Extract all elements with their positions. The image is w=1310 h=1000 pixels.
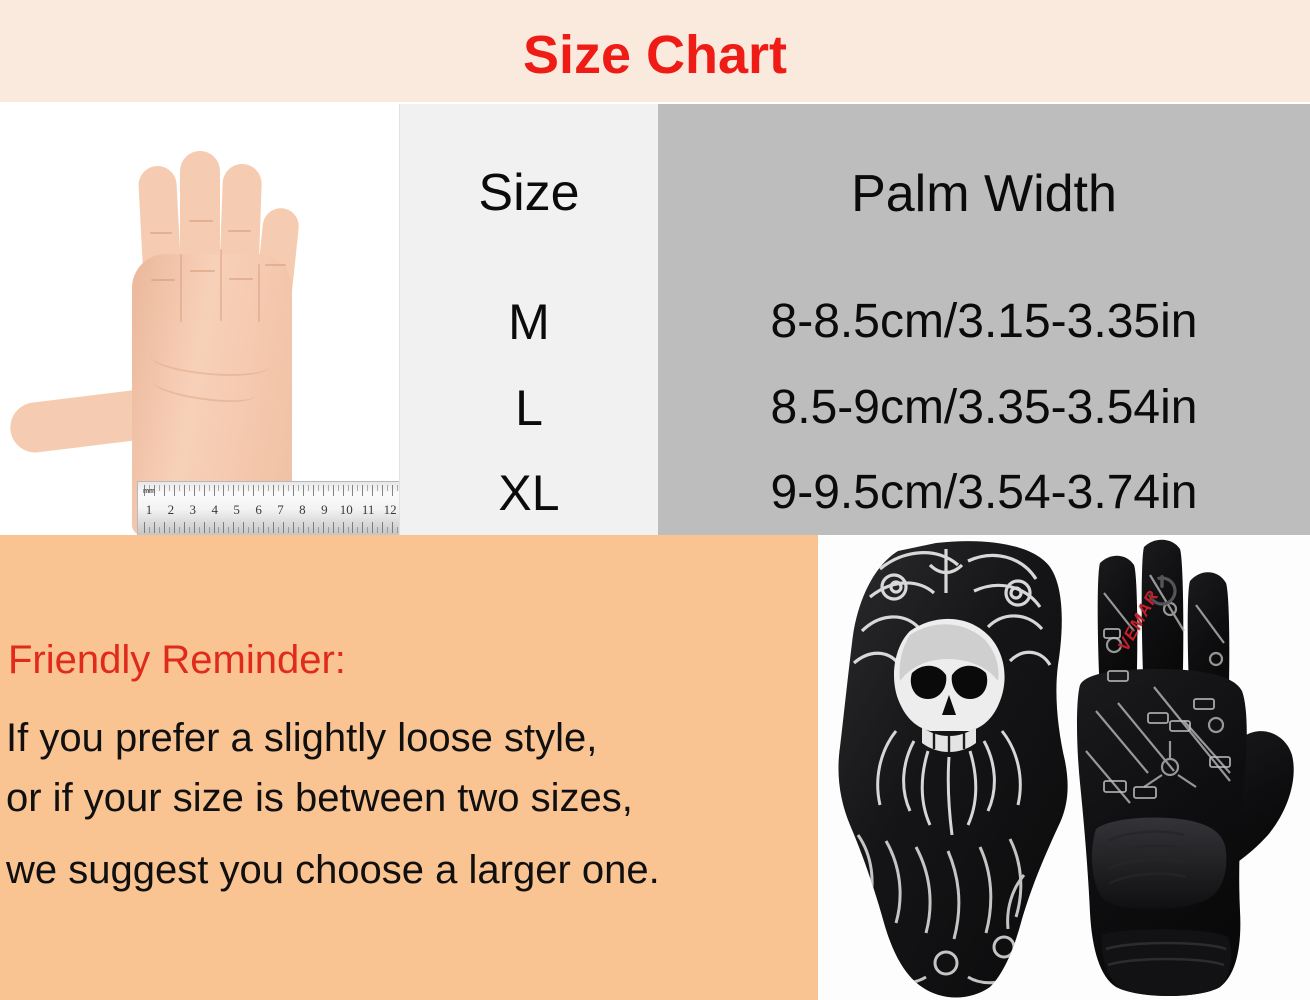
friendly-reminder-panel [0,535,818,1000]
ruler-tick [343,522,344,533]
ruler-number-scale: 123456789101112 [138,499,400,521]
ruler-tick [248,485,249,491]
ruler-tick [238,527,239,533]
ruler-number: 1 [138,499,160,521]
page-title: Size Chart [0,26,1310,84]
ruler-tick [194,522,195,533]
ruler-tick [189,485,190,491]
table-row-size-xl: XL [400,468,658,518]
ruler-tick [233,485,234,496]
finger-groove [180,254,182,322]
ruler-tick [194,485,195,496]
ruler-tick [253,522,254,533]
ruler-tick [343,485,344,496]
ruler-tick [209,485,210,491]
ruler-tick [199,485,200,491]
ruler-tick [258,485,259,491]
ruler-tick [154,522,155,533]
ruler-tick [382,485,383,496]
ruler-tick [228,527,229,533]
ruler-tick [352,522,353,533]
finger-crease [229,278,253,280]
ruler-tick [367,485,368,491]
ruler-tick [223,485,224,496]
ruler-tick [323,522,324,533]
ruler-tick [199,527,200,533]
ruler-tick [352,485,353,496]
ruler-tick [184,485,185,496]
ruler-tick [313,485,314,496]
ruler-tick [278,527,279,533]
ruler-ticks-top [138,485,400,498]
ruler-tick [328,485,329,491]
ruler-number: 9 [313,499,335,521]
glove-palm-side [1077,540,1294,996]
ruler-tick [283,485,284,496]
ruler-tick [323,485,324,496]
ruler-tick [233,522,234,533]
ruler-tick [333,485,334,496]
reminder-line-2: or if your size is between two sizes, [6,778,633,818]
ruler-tick [273,485,274,496]
ruler-tick [397,527,398,533]
ruler-tick [223,522,224,533]
thumb [7,389,152,456]
ruler-tick [248,527,249,533]
ruler-tick [149,485,150,491]
ruler-tick [258,527,259,533]
finger-crease [228,230,251,232]
ruler-tick [268,485,269,491]
ruler-tick [263,485,264,496]
ruler-tick [392,522,393,533]
reminder-line-3: we suggest you choose a larger one. [6,850,660,890]
ruler-tick [288,527,289,533]
ruler-tick [164,522,165,533]
ruler-tick [154,485,155,496]
ruler-number: 7 [270,499,292,521]
ruler-tick [174,522,175,533]
header-band: Size Chart [0,0,1310,102]
ruler-tick [218,527,219,533]
ruler-tick [214,522,215,533]
ruler-tick [184,522,185,533]
ruler-tick [293,485,294,496]
ruler-tick [218,485,219,491]
ruler-tick [273,522,274,533]
finger-crease [151,279,175,281]
ruler-tick [303,485,304,496]
ruler-tick [313,522,314,533]
ruler-tick [357,485,358,491]
table-row-size-l: L [400,383,658,433]
ruler-tick [387,485,388,491]
ruler-tick [228,485,229,491]
column-header-size: Size [400,167,658,219]
ruler-tick [308,527,309,533]
glove-graphic [818,535,1310,1000]
hand-illustration [0,104,400,535]
finger-crease [190,270,215,272]
ruler-tick [179,527,180,533]
column-header-palm-width: Palm Width [658,168,1310,220]
finger-crease [265,264,286,266]
finger-groove [220,249,222,321]
ruler-tick [283,522,284,533]
ruler-number: 4 [204,499,226,521]
ruler-tick [179,485,180,491]
ruler-tick [288,485,289,491]
ruler-tick [362,522,363,533]
ruler-tick [367,527,368,533]
ruler-tick [164,485,165,496]
ruler-tick [348,527,349,533]
ruler-tick [387,527,388,533]
ruler-tick [382,522,383,533]
ruler-tick [348,485,349,491]
ruler-number: 2 [160,499,182,521]
ruler-tick [263,522,264,533]
ruler-tick [278,485,279,491]
finger-crease [189,220,213,222]
ruler-tick [397,485,398,491]
ruler-tick [293,522,294,533]
ruler-number: 3 [182,499,204,521]
table-row-value-l: 8.5-9cm/3.35-3.54in [658,384,1310,432]
ruler-ticks-bottom [138,520,400,533]
ruler-number: 11 [357,499,379,521]
table-row-value-m: 8-8.5cm/3.15-3.35in [658,298,1310,346]
ruler-tick [318,485,319,491]
ruler-number: 6 [248,499,270,521]
ruler-tick [357,527,358,533]
ruler-tick [204,522,205,533]
ruler-tick [377,527,378,533]
hand-measure-photo: mm 123456789101112 Palm Width [0,104,400,535]
ruler-tick [328,527,329,533]
ruler-tick [333,522,334,533]
ruler-number: 12 [379,499,400,521]
ruler-tick [144,522,145,533]
ruler-tick [253,485,254,496]
reminder-title: Friendly Reminder: [8,640,346,680]
ruler-tick [169,485,170,491]
ruler-number: 8 [291,499,313,521]
reminder-line-1: If you prefer a slightly loose style, [6,718,597,758]
ruler-tick [338,527,339,533]
ruler-tick [214,485,215,496]
finger-crease [150,232,172,234]
ruler-tick [189,527,190,533]
ruler-tick [268,527,269,533]
size-chart-page: Size Chart mm [0,0,1310,1000]
ruler-tick [149,527,150,533]
ruler-tick [204,485,205,496]
ruler-tick [392,485,393,496]
ruler-tick [338,485,339,491]
ruler-tick [298,527,299,533]
ruler-tick [318,527,319,533]
product-photo-gloves: VEMAR [818,535,1310,1000]
ruler-tick [159,527,160,533]
ruler-tick [238,485,239,491]
finger-groove [258,264,260,322]
ruler-tick [209,527,210,533]
ruler-tick [377,485,378,491]
ruler-overlay: mm 123456789101112 [137,481,400,535]
ruler-tick [303,522,304,533]
ruler-tick [372,522,373,533]
ruler-tick [144,485,145,496]
ruler-tick [372,485,373,496]
ruler-tick [159,485,160,491]
ruler-number: 10 [335,499,357,521]
ruler-number: 5 [226,499,248,521]
ruler-tick [243,522,244,533]
ruler-tick [308,485,309,491]
ruler-tick [174,485,175,496]
ruler-tick [243,485,244,496]
ruler-tick [169,527,170,533]
ruler-tick [362,485,363,496]
table-row-size-m: M [400,297,658,347]
ruler-tick [298,485,299,491]
glove-back-skull [818,535,1078,1000]
table-row-value-xl: 9-9.5cm/3.54-3.74in [658,469,1310,517]
